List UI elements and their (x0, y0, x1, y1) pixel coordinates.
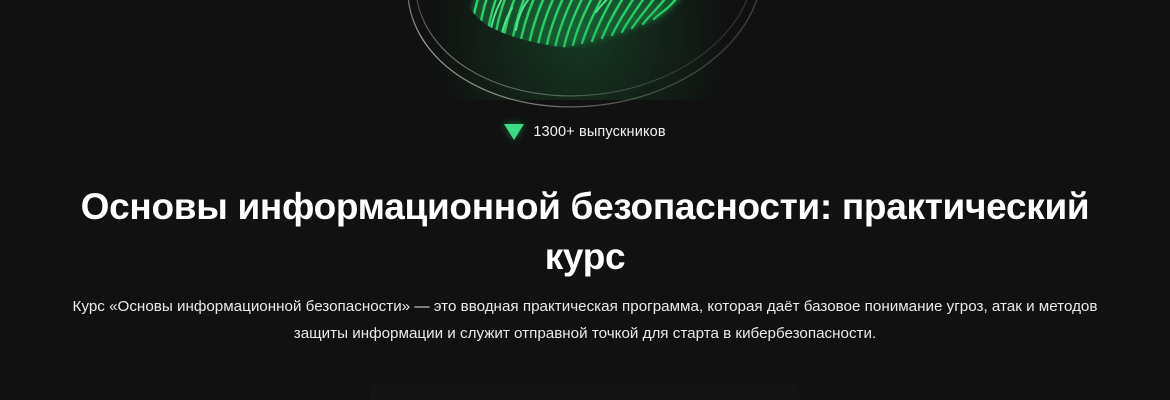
hero-graphic-svg (0, 0, 1170, 120)
inner-ring-ellipse (402, 0, 769, 115)
course-hero-page: 1300+ выпускников Основы информационной … (0, 0, 1170, 400)
fingerprint-glow (430, 0, 730, 100)
hero-graphic (0, 0, 1170, 120)
page-title: Основы информационной безопасности: прак… (70, 182, 1100, 282)
fingerprint-icon (470, 0, 680, 50)
fingerprint-accent-ridges (489, 0, 618, 44)
triangle-down-icon (504, 124, 524, 140)
bottom-panel-edge (370, 384, 800, 400)
course-description: Курс «Основы информационной безопасности… (55, 293, 1115, 347)
outer-ring-ellipse (393, 0, 778, 120)
graduates-badge: 1300+ выпускников (0, 124, 1170, 140)
graduates-badge-label: 1300+ выпускников (533, 124, 665, 140)
